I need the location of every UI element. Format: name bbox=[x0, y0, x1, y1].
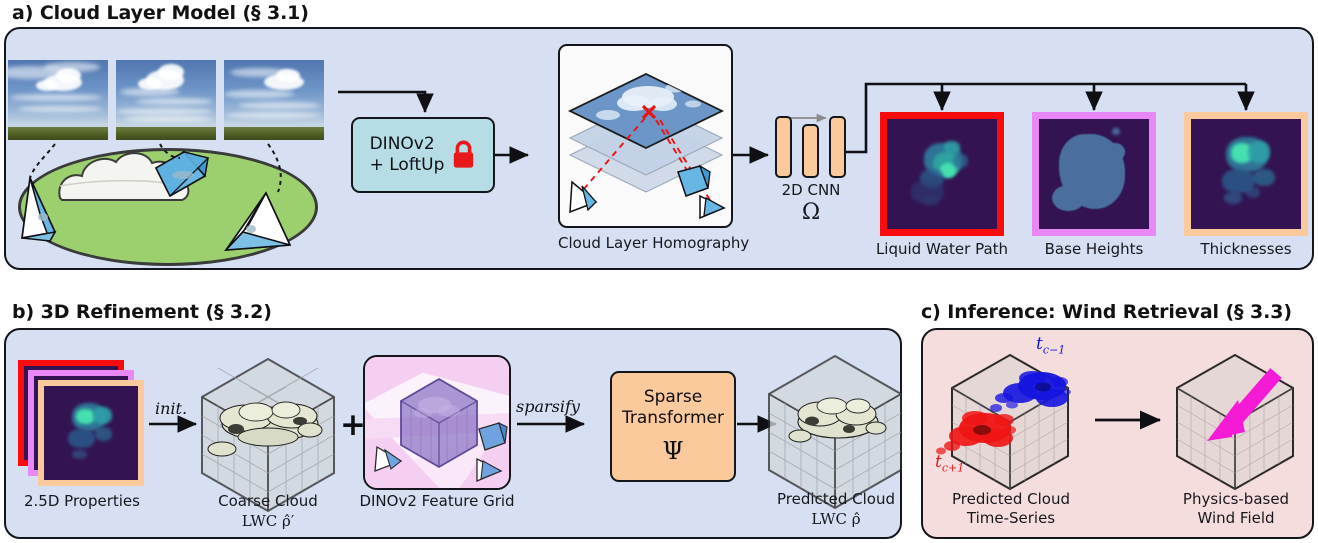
homography-box bbox=[558, 44, 733, 228]
ground-ellipse bbox=[18, 148, 318, 266]
encoder-box[interactable]: DINOv2 + LoftUp bbox=[351, 117, 495, 193]
label-tc-minus-1: tc−1 bbox=[1036, 334, 1065, 356]
windfield-caption-line1: Physics-based bbox=[1166, 490, 1306, 508]
init-arrow-label: init. bbox=[155, 399, 187, 418]
timeseries-caption-line2: Time-Series bbox=[940, 509, 1082, 527]
coarse-cloud-caption: Coarse Cloud bbox=[198, 492, 338, 510]
cnn-bar-1 bbox=[775, 116, 792, 178]
cnn-symbol: Ω bbox=[756, 200, 866, 225]
property-stack-orange bbox=[38, 380, 144, 486]
cnn-label: 2D CNN bbox=[756, 181, 866, 199]
sky-image-2 bbox=[116, 60, 216, 140]
output-label-thicknesses: Thicknesses bbox=[1182, 240, 1310, 258]
predicted-cloud-caption: Predicted Cloud bbox=[766, 490, 906, 508]
figure-root: a) Cloud Layer Model (§ 3.1) b) 3D Refin… bbox=[0, 0, 1318, 543]
coarse-cloud-sub: LWC ρ̂′ bbox=[198, 512, 338, 530]
lock-icon bbox=[451, 140, 476, 170]
properties-caption: 2.5D Properties bbox=[6, 492, 158, 510]
transformer-line2: Transformer bbox=[622, 408, 724, 429]
output-label-base-heights: Base Heights bbox=[1026, 240, 1162, 258]
transformer-symbol: Ψ bbox=[662, 437, 683, 466]
output-map-lwp bbox=[880, 112, 1004, 236]
cnn-bar-3 bbox=[829, 116, 846, 178]
panel-a-title: a) Cloud Layer Model (§ 3.1) bbox=[12, 2, 309, 24]
timeseries-caption-line1: Predicted Cloud bbox=[940, 490, 1082, 508]
encoder-line1: DINOv2 bbox=[370, 134, 445, 155]
sky-image-1 bbox=[8, 60, 108, 140]
feature-grid-box bbox=[363, 355, 511, 490]
windfield-caption-line2: Wind Field bbox=[1166, 509, 1306, 527]
transformer-line1: Sparse bbox=[644, 387, 702, 408]
sky-image-3 bbox=[224, 60, 324, 140]
feature-grid-caption: DINOv2 Feature Grid bbox=[348, 492, 526, 510]
output-label-lwp: Liquid Water Path bbox=[858, 240, 1026, 258]
encoder-line2: + LoftUp bbox=[370, 155, 445, 176]
sparse-transformer-box[interactable]: Sparse Transformer Ψ bbox=[610, 371, 736, 482]
output-map-thicknesses bbox=[1184, 112, 1308, 236]
label-tc-plus-1: tc+1 bbox=[935, 452, 964, 474]
panel-b-title: b) 3D Refinement (§ 3.2) bbox=[12, 301, 272, 323]
cnn-bar-2 bbox=[802, 124, 819, 178]
sparsify-arrow-label: sparsify bbox=[516, 397, 580, 416]
output-map-base-heights bbox=[1032, 112, 1156, 236]
homography-caption: Cloud Layer Homography bbox=[558, 234, 733, 252]
predicted-cloud-sub: LWC ρ̂ bbox=[766, 510, 906, 528]
panel-c-title: c) Inference: Wind Retrieval (§ 3.3) bbox=[921, 301, 1292, 323]
